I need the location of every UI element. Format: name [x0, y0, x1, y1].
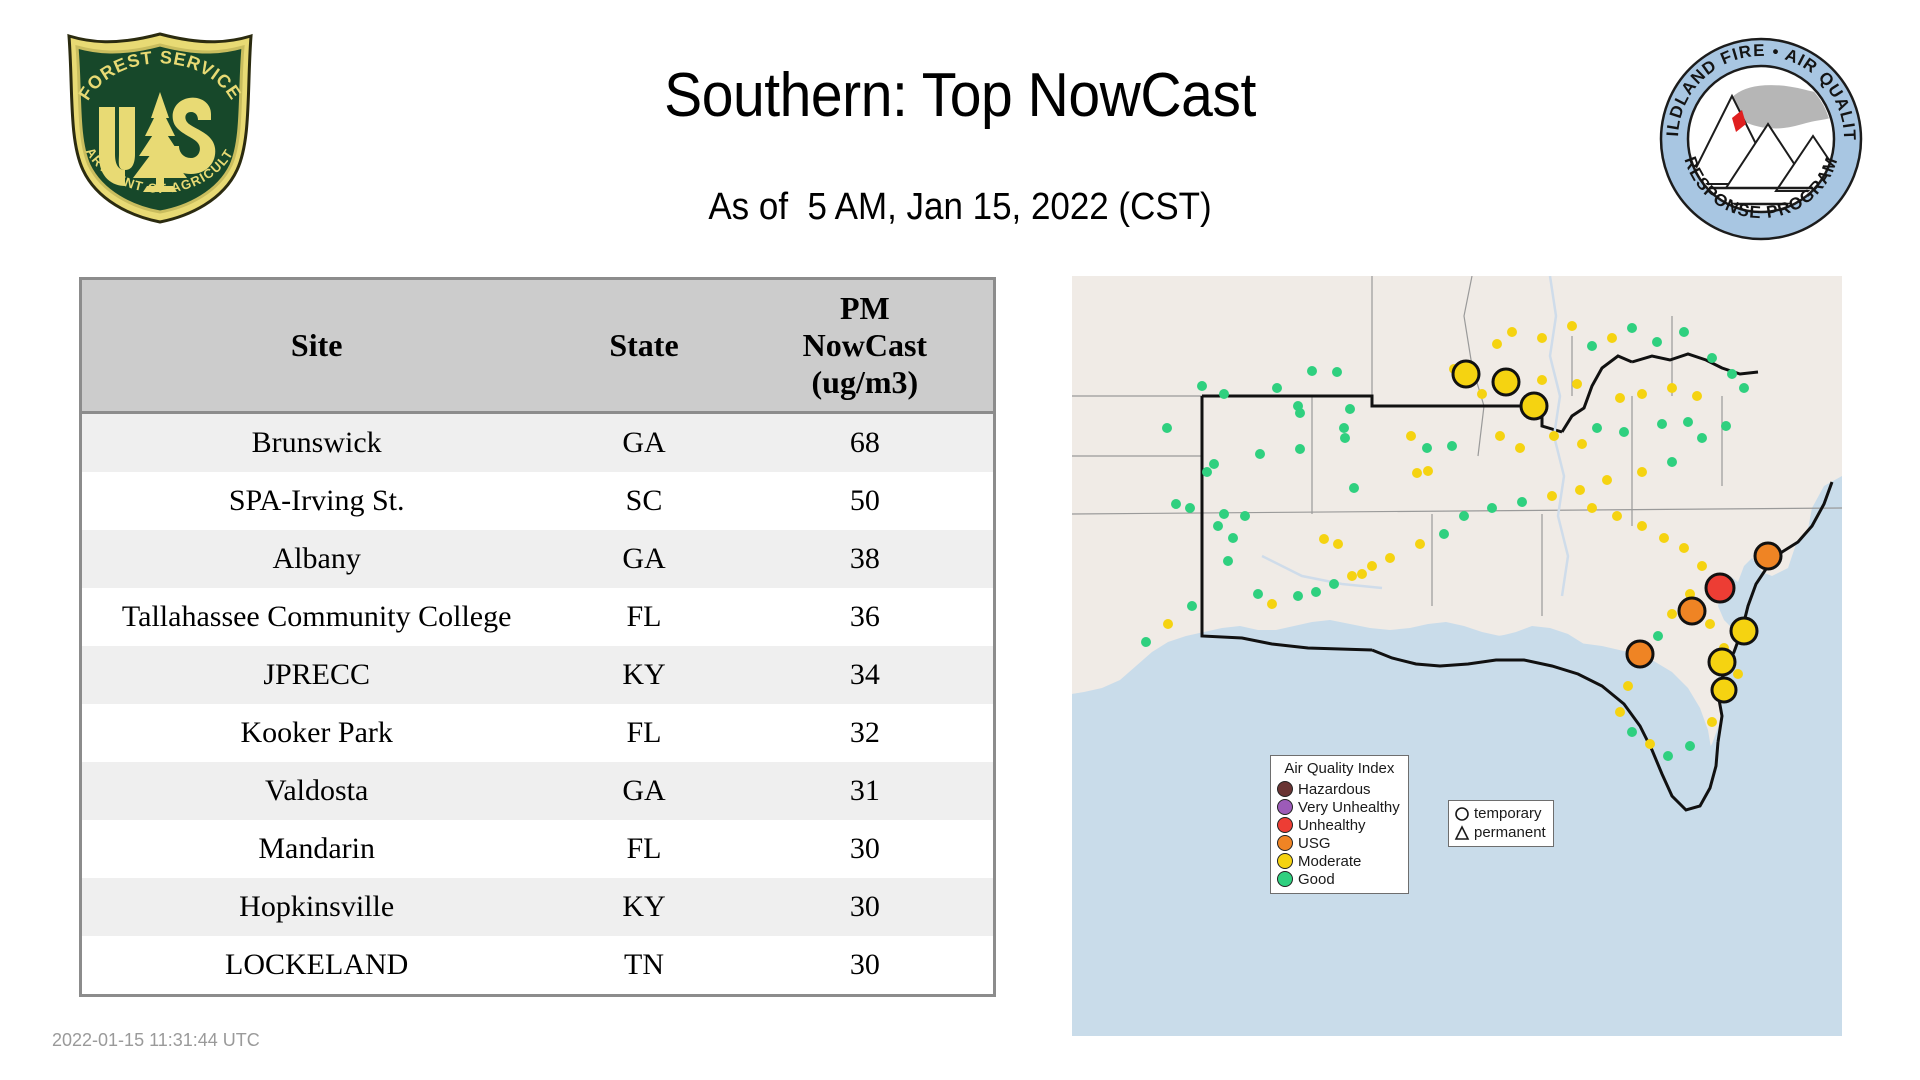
- cell-pm: 30: [737, 820, 993, 878]
- monitor-dot[interactable]: [1339, 423, 1349, 433]
- monitor-dot[interactable]: [1627, 727, 1637, 737]
- table-row: Mandarin FL 30: [82, 820, 993, 878]
- legend-item-very-unhealthy: Very Unhealthy: [1277, 798, 1400, 816]
- monitor-dot[interactable]: [1240, 511, 1250, 521]
- cell-site: Kooker Park: [82, 704, 551, 762]
- monitor-dot[interactable]: [1657, 419, 1667, 429]
- monitor-dot[interactable]: [1293, 591, 1303, 601]
- monitor-dot[interactable]: [1385, 553, 1395, 563]
- monitor-dot[interactable]: [1295, 408, 1305, 418]
- table-row: LOCKELAND TN 30: [82, 936, 993, 994]
- monitor-dot[interactable]: [1163, 619, 1173, 629]
- legend-label-hazardous: Hazardous: [1298, 782, 1371, 797]
- legend-label-very-unhealthy: Very Unhealthy: [1298, 800, 1400, 815]
- circle-icon: [1454, 806, 1470, 822]
- monitor-dot[interactable]: [1637, 389, 1647, 399]
- monitor-dot[interactable]: [1267, 599, 1277, 609]
- page-title: Southern: Top NowCast: [500, 60, 1420, 131]
- table-row: Valdosta GA 31: [82, 762, 993, 820]
- monitor-dot[interactable]: [1223, 556, 1233, 566]
- monitor-dot[interactable]: [1367, 561, 1377, 571]
- legend-label-permanent: permanent: [1474, 825, 1546, 840]
- monitor-dot[interactable]: [1707, 717, 1717, 727]
- monitor-dot[interactable]: [1209, 459, 1219, 469]
- legend-swatch-usg: [1277, 835, 1293, 851]
- cell-site: Albany: [82, 530, 551, 588]
- monitor-dot[interactable]: [1575, 485, 1585, 495]
- usda-forest-service-shield-icon: FOREST SERVICE DEPARTMENT OF AGRICULTURE: [55, 30, 265, 225]
- monitor-dot[interactable]: [1319, 534, 1329, 544]
- monitor-dot[interactable]: [1340, 433, 1350, 443]
- nowcast-table: Site State PM NowCast (ug/m3) Brunswick …: [79, 277, 996, 997]
- table-row: Brunswick GA 68: [82, 413, 993, 473]
- monitor-dot-highlighted[interactable]: [1521, 393, 1547, 419]
- cell-state: TN: [551, 936, 736, 994]
- monitor-dot[interactable]: [1637, 467, 1647, 477]
- monitor-dot[interactable]: [1347, 571, 1357, 581]
- monitor-dot-highlighted[interactable]: [1493, 369, 1519, 395]
- monitor-dot[interactable]: [1602, 475, 1612, 485]
- legend-label-moderate: Moderate: [1298, 854, 1361, 869]
- slide-root: FOREST SERVICE DEPARTMENT OF AGRICULTURE: [0, 0, 1920, 1080]
- monitor-dot[interactable]: [1679, 327, 1689, 337]
- cell-site: Hopkinsville: [82, 878, 551, 936]
- monitor-dot[interactable]: [1406, 431, 1416, 441]
- map-legend-air-quality-index: Air Quality Index Hazardous Very Unhealt…: [1270, 755, 1409, 894]
- monitor-dot-highlighted[interactable]: [1627, 641, 1653, 667]
- monitor-dot[interactable]: [1615, 707, 1625, 717]
- monitor-dot[interactable]: [1349, 483, 1359, 493]
- monitor-dot[interactable]: [1567, 321, 1577, 331]
- monitor-dot[interactable]: [1652, 337, 1662, 347]
- table-body: Brunswick GA 68 SPA-Irving St. SC 50 Alb…: [82, 413, 993, 995]
- cell-pm: 30: [737, 936, 993, 994]
- monitor-dot[interactable]: [1679, 543, 1689, 553]
- monitor-dot[interactable]: [1219, 389, 1229, 399]
- legend-label-unhealthy: Unhealthy: [1298, 818, 1366, 833]
- cell-site: Valdosta: [82, 762, 551, 820]
- cell-state: FL: [551, 704, 736, 762]
- legend-swatch-hazardous: [1277, 781, 1293, 797]
- cell-pm: 38: [737, 530, 993, 588]
- monitor-dot[interactable]: [1272, 383, 1282, 393]
- monitor-dot[interactable]: [1459, 511, 1469, 521]
- monitor-dot[interactable]: [1623, 681, 1633, 691]
- table-row: Albany GA 38: [82, 530, 993, 588]
- cell-pm: 36: [737, 588, 993, 646]
- monitor-dot[interactable]: [1329, 579, 1339, 589]
- monitor-dot[interactable]: [1307, 366, 1317, 376]
- cell-state: KY: [551, 878, 736, 936]
- monitor-dot[interactable]: [1197, 381, 1207, 391]
- cell-state: GA: [551, 762, 736, 820]
- map-legend-monitor-type: temporary permanent: [1448, 800, 1554, 847]
- monitor-dot[interactable]: [1547, 491, 1557, 501]
- monitor-dot[interactable]: [1653, 631, 1663, 641]
- monitor-dot[interactable]: [1587, 503, 1597, 513]
- monitor-dot[interactable]: [1705, 619, 1715, 629]
- monitor-dot[interactable]: [1187, 601, 1197, 611]
- monitor-dot[interactable]: [1477, 389, 1487, 399]
- cell-state: KY: [551, 646, 736, 704]
- monitor-dot[interactable]: [1495, 431, 1505, 441]
- monitor-dot[interactable]: [1683, 417, 1693, 427]
- monitor-dot[interactable]: [1685, 741, 1695, 751]
- pm-header-line-1: PM: [741, 290, 989, 327]
- monitor-dot-highlighted[interactable]: [1453, 361, 1479, 387]
- monitor-dot[interactable]: [1707, 353, 1717, 363]
- cell-site: JPRECC: [82, 646, 551, 704]
- cell-pm: 32: [737, 704, 993, 762]
- legend-swatch-moderate: [1277, 853, 1293, 869]
- triangle-icon: [1454, 825, 1470, 841]
- monitor-dot[interactable]: [1692, 391, 1702, 401]
- monitor-dot[interactable]: [1663, 751, 1673, 761]
- legend-label-temporary: temporary: [1474, 806, 1542, 821]
- monitor-dot[interactable]: [1213, 521, 1223, 531]
- monitor-dot[interactable]: [1645, 739, 1655, 749]
- legend-item-good: Good: [1277, 870, 1400, 888]
- cell-site: Tallahassee Community College: [82, 588, 551, 646]
- monitor-dot-highlighted[interactable]: [1679, 598, 1705, 624]
- cell-state: FL: [551, 820, 736, 878]
- cell-site: Mandarin: [82, 820, 551, 878]
- monitor-dot[interactable]: [1667, 383, 1677, 393]
- monitor-dot[interactable]: [1577, 439, 1587, 449]
- monitor-dot[interactable]: [1627, 323, 1637, 333]
- monitor-dot[interactable]: [1537, 333, 1547, 343]
- cell-pm: 34: [737, 646, 993, 704]
- monitor-dot[interactable]: [1659, 533, 1669, 543]
- monitor-dot[interactable]: [1739, 383, 1749, 393]
- monitor-dot[interactable]: [1295, 444, 1305, 454]
- monitor-dot[interactable]: [1592, 423, 1602, 433]
- wildland-fire-air-quality-response-program-seal-icon: WILDLAND FIRE • AIR QUALITY RESPONSE PRO…: [1658, 36, 1864, 242]
- monitor-dot[interactable]: [1447, 441, 1457, 451]
- monitor-dot[interactable]: [1697, 561, 1707, 571]
- monitor-dot[interactable]: [1415, 539, 1425, 549]
- monitor-dot[interactable]: [1667, 457, 1677, 467]
- table-header-row: Site State PM NowCast (ug/m3): [82, 280, 993, 413]
- legend-item-permanent: permanent: [1454, 823, 1546, 842]
- monitor-dot[interactable]: [1517, 497, 1527, 507]
- legend-item-usg: USG: [1277, 834, 1400, 852]
- monitor-dot-highlighted[interactable]: [1709, 649, 1735, 675]
- monitor-dot[interactable]: [1572, 379, 1582, 389]
- generation-timestamp: 2022-01-15 11:31:44 UTC: [52, 1030, 260, 1051]
- table-row: Kooker Park FL 32: [82, 704, 993, 762]
- monitor-dot[interactable]: [1612, 511, 1622, 521]
- monitor-dot[interactable]: [1332, 367, 1342, 377]
- monitor-dot[interactable]: [1587, 341, 1597, 351]
- cell-state: GA: [551, 413, 736, 473]
- cell-state: GA: [551, 530, 736, 588]
- page-subtitle: As of 5 AM, Jan 15, 2022 (CST): [500, 186, 1420, 229]
- monitor-dot[interactable]: [1721, 421, 1731, 431]
- monitor-dot[interactable]: [1549, 431, 1559, 441]
- monitor-dot-highlighted[interactable]: [1731, 618, 1757, 644]
- column-header-state: State: [551, 280, 736, 413]
- monitor-dot[interactable]: [1345, 404, 1355, 414]
- monitor-dot[interactable]: [1423, 466, 1433, 476]
- monitor-dot[interactable]: [1607, 333, 1617, 343]
- cell-state: SC: [551, 472, 736, 530]
- monitor-dot[interactable]: [1422, 443, 1432, 453]
- monitor-dot[interactable]: [1439, 529, 1449, 539]
- monitor-dot[interactable]: [1507, 327, 1517, 337]
- monitor-dot[interactable]: [1637, 521, 1647, 531]
- column-header-pm-nowcast: PM NowCast (ug/m3): [737, 280, 993, 413]
- legend-swatch-very-unhealthy: [1277, 799, 1293, 815]
- monitor-dot[interactable]: [1515, 443, 1525, 453]
- cell-state: FL: [551, 588, 736, 646]
- monitor-dot[interactable]: [1253, 589, 1263, 599]
- table-row: JPRECC KY 34: [82, 646, 993, 704]
- legend-swatch-unhealthy: [1277, 817, 1293, 833]
- monitor-dot[interactable]: [1412, 468, 1422, 478]
- legend-label-good: Good: [1298, 872, 1335, 887]
- legend-item-moderate: Moderate: [1277, 852, 1400, 870]
- monitor-dot[interactable]: [1492, 339, 1502, 349]
- cell-site: LOCKELAND: [82, 936, 551, 994]
- cell-site: SPA-Irving St.: [82, 472, 551, 530]
- cell-pm: 68: [737, 413, 993, 473]
- monitor-dot[interactable]: [1171, 499, 1181, 509]
- monitor-dot[interactable]: [1733, 669, 1743, 679]
- legend-item-hazardous: Hazardous: [1277, 780, 1400, 798]
- monitor-dot[interactable]: [1228, 533, 1238, 543]
- monitor-dot[interactable]: [1162, 423, 1172, 433]
- cell-pm: 31: [737, 762, 993, 820]
- monitor-dot[interactable]: [1615, 393, 1625, 403]
- pm-header-line-2: NowCast: [741, 327, 989, 364]
- column-header-site: Site: [82, 280, 551, 413]
- monitor-dot-highlighted[interactable]: [1755, 543, 1781, 569]
- monitor-dot[interactable]: [1311, 587, 1321, 597]
- cell-pm: 30: [737, 878, 993, 936]
- monitor-dot[interactable]: [1487, 503, 1497, 513]
- legend-item-temporary: temporary: [1454, 804, 1546, 823]
- monitor-dot-highlighted[interactable]: [1712, 678, 1736, 702]
- legend-label-usg: USG: [1298, 836, 1331, 851]
- table-row: Hopkinsville KY 30: [82, 878, 993, 936]
- cell-pm: 50: [737, 472, 993, 530]
- monitor-dot[interactable]: [1333, 539, 1343, 549]
- table-row: Tallahassee Community College FL 36: [82, 588, 993, 646]
- monitor-dot[interactable]: [1185, 503, 1195, 513]
- pm-header-line-3: (ug/m3): [741, 364, 989, 401]
- monitor-dot[interactable]: [1697, 433, 1707, 443]
- legend-item-unhealthy: Unhealthy: [1277, 816, 1400, 834]
- monitor-dot[interactable]: [1357, 569, 1367, 579]
- monitor-dot-highlighted[interactable]: [1706, 574, 1734, 602]
- monitor-dot[interactable]: [1667, 609, 1677, 619]
- monitor-dot[interactable]: [1219, 509, 1229, 519]
- monitor-dot[interactable]: [1727, 369, 1737, 379]
- monitor-dot[interactable]: [1619, 427, 1629, 437]
- monitor-dot[interactable]: [1141, 637, 1151, 647]
- monitor-dot[interactable]: [1537, 375, 1547, 385]
- legend-title: Air Quality Index: [1279, 760, 1400, 777]
- legend-swatch-good: [1277, 871, 1293, 887]
- table-row: SPA-Irving St. SC 50: [82, 472, 993, 530]
- monitor-dot[interactable]: [1202, 467, 1212, 477]
- air-quality-map[interactable]: [1072, 276, 1842, 1036]
- cell-site: Brunswick: [82, 413, 551, 473]
- monitor-dot[interactable]: [1255, 449, 1265, 459]
